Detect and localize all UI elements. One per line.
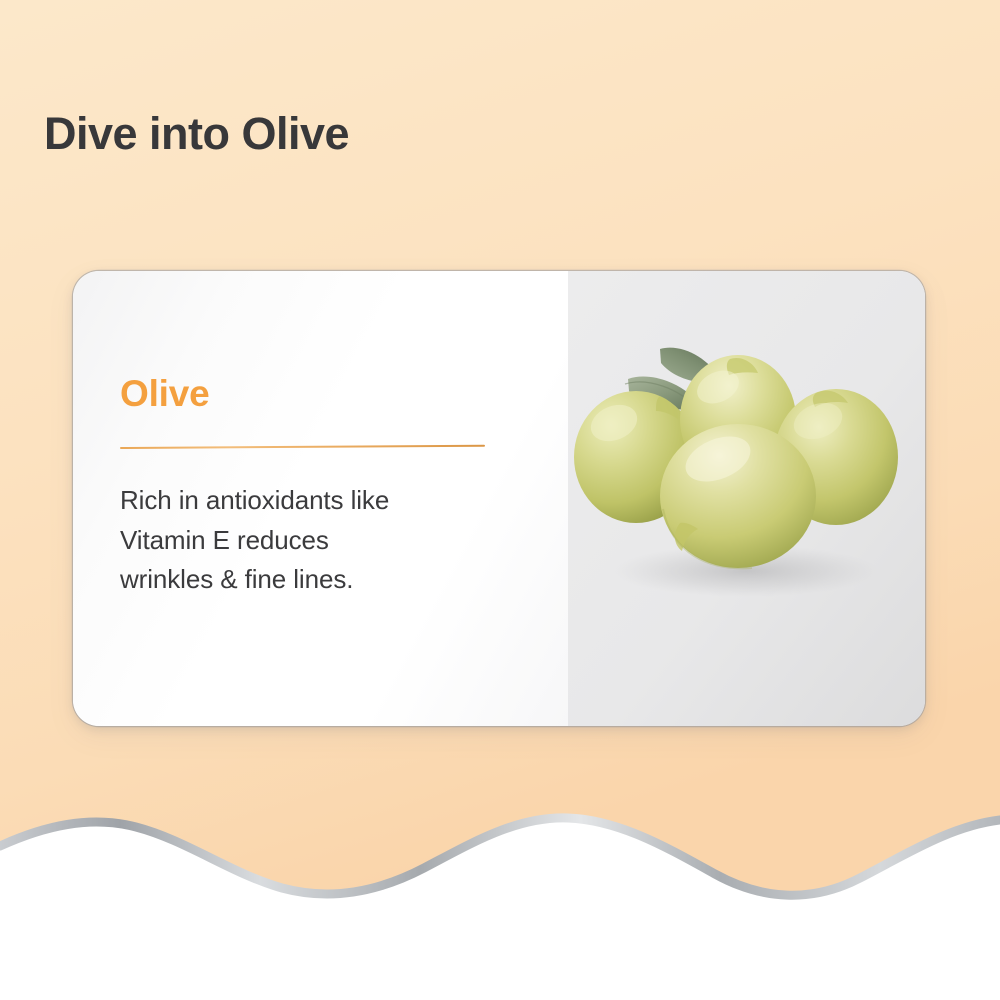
body-line-1: Rich in antioxidants like	[120, 481, 490, 521]
body-line-3: wrinkles & fine lines.	[120, 560, 490, 600]
card-image-pane	[568, 271, 925, 726]
slide-canvas: Dive into Olive Olive Rich in antioxidan…	[0, 0, 1000, 1000]
body-line-2: Vitamin E reduces	[120, 521, 490, 561]
page-title: Dive into Olive	[44, 108, 349, 160]
card-body-text: Rich in antioxidants like Vitamin E redu…	[120, 481, 490, 600]
olive-fruit	[660, 424, 816, 568]
olives-photo-illustration	[568, 271, 925, 726]
card-text-pane: Olive Rich in antioxidants like Vitamin …	[73, 271, 568, 726]
title-divider	[120, 445, 485, 449]
olive-info-card[interactable]: Olive Rich in antioxidants like Vitamin …	[73, 271, 925, 726]
card-title: Olive	[120, 375, 568, 412]
